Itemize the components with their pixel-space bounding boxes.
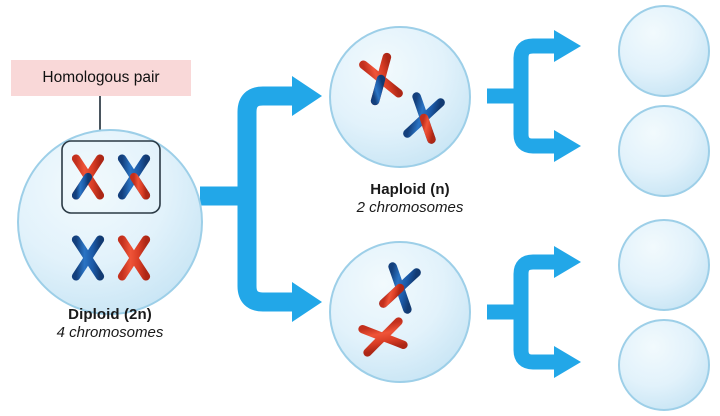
chromosome-g4b	[644, 378, 684, 382]
haploid-label-line1: Haploid (n)	[330, 181, 490, 199]
gamete-cell-1	[619, 6, 709, 96]
diploid-label-line2: 4 chromosomes	[20, 324, 200, 342]
division-bracket-meiosis-1	[200, 76, 322, 322]
haploid-label-line2: 2 chromosomes	[330, 199, 490, 217]
division-bracket-meiosis-2-bottom	[487, 246, 581, 378]
diploid-cell-label: Diploid (2n) 4 chromosomes	[20, 306, 200, 341]
haploid-cell-bottom	[330, 242, 470, 382]
diploid-label-line1: Diploid (2n)	[20, 306, 200, 324]
haploid-cell-top	[330, 27, 470, 167]
gamete-cell-4	[619, 320, 709, 410]
gamete-cell-2	[619, 106, 709, 196]
gamete-cell-3	[619, 220, 709, 310]
chromosome-g3b	[678, 245, 684, 285]
diploid-parent-cell	[18, 130, 202, 314]
homologous-pair-label: Homologous pair	[42, 69, 159, 87]
division-bracket-meiosis-2-top	[487, 30, 581, 162]
haploid-cell-label: Haploid (n) 2 chromosomes	[330, 181, 490, 216]
homologous-pair-callout: Homologous pair	[11, 60, 191, 96]
chromosome-g3a	[647, 245, 653, 285]
meiosis-diagram: Homologous pair Diploid (2n) 4 chromosom…	[0, 0, 720, 416]
